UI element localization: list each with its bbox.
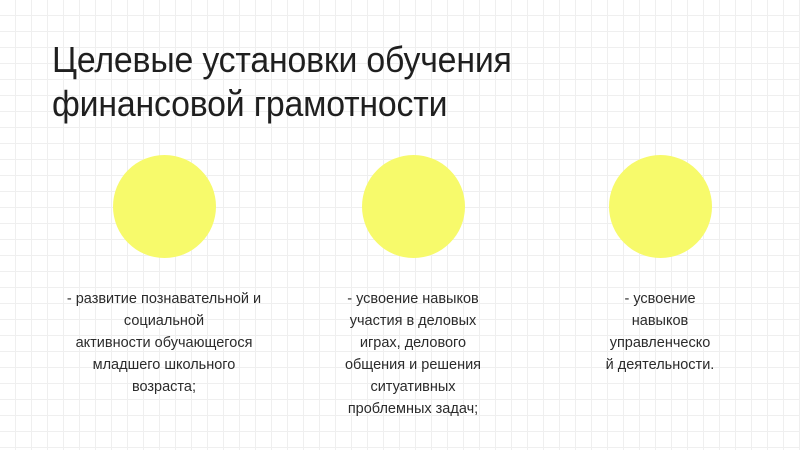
slide-canvas: Целевые установки обучения финансовой гр…	[0, 0, 800, 450]
column-text-2: - усвоение навыков участия в деловых игр…	[325, 288, 501, 420]
circle-shape-2	[362, 155, 465, 258]
circle-shape-3	[609, 155, 712, 258]
column-text-1: - развитие познавательной и социальной а…	[41, 288, 287, 398]
circle-shape-1	[113, 155, 216, 258]
content-columns: - развитие познавательной и социальной а…	[0, 0, 800, 450]
column-text-3: - усвоение навыков управленческо й деяте…	[572, 288, 748, 376]
